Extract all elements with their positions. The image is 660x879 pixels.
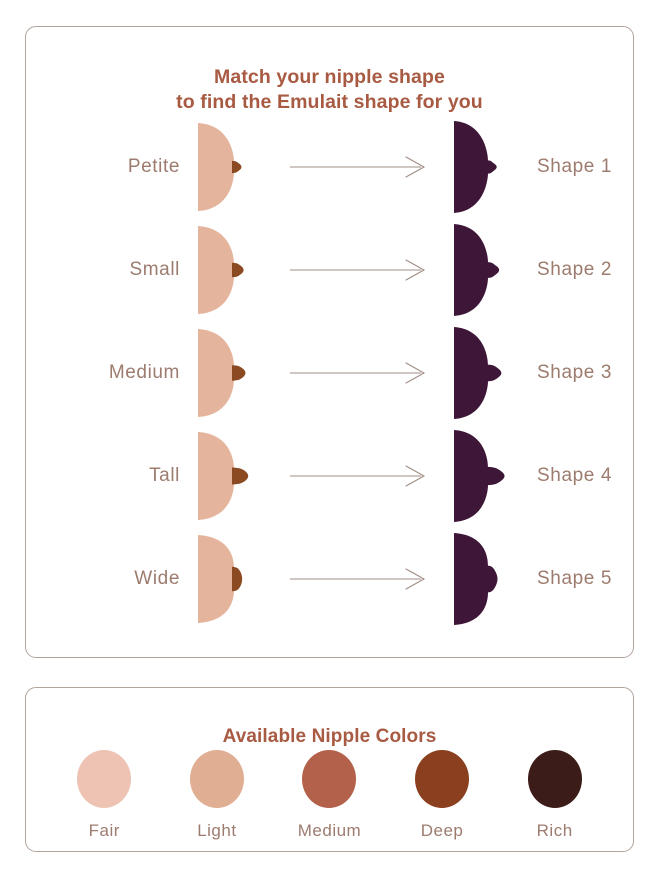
breast-profile-icon [194,222,266,318]
color-swatch-dot[interactable] [190,750,244,808]
shape-match-row: Wide Shape 5 [26,527,633,630]
breast-profile-icon [194,325,266,421]
emulait-shape-label: Shape 2 [521,259,633,281]
nipple-size-label: Small [26,259,194,281]
nipple-size-label: Medium [26,362,194,384]
color-swatch-list: FairLightMediumDeepRich [26,750,633,841]
shape-match-row: Petite Shape 1 [26,115,633,218]
right-arrow-icon [266,360,451,386]
emulait-shape-label: Shape 5 [521,568,633,590]
match-card-title-line-2: to find the Emulait shape for you [26,90,633,115]
color-swatch-dot[interactable] [77,750,131,808]
emulait-shape-label: Shape 3 [521,362,633,384]
right-arrow-icon [266,257,451,283]
right-arrow-icon [266,566,451,592]
right-arrow-icon [266,463,451,489]
color-swatch-dot[interactable] [528,750,582,808]
color-swatch-dot[interactable] [415,750,469,808]
emulait-shape-label: Shape 1 [521,156,633,178]
color-swatch[interactable]: Fair [58,750,150,841]
shape-match-row: Medium Shape 3 [26,321,633,424]
emulait-teat-icon [451,428,521,524]
nipple-size-label: Wide [26,568,194,590]
breast-profile-icon [194,531,266,627]
nipple-size-label: Petite [26,156,194,178]
color-swatch-label: Rich [537,821,573,841]
shape-match-row: Small Shape 2 [26,218,633,321]
color-swatch-label: Fair [89,821,120,841]
right-arrow-icon [266,154,451,180]
color-swatch[interactable]: Medium [283,750,375,841]
emulait-teat-icon [451,222,521,318]
breast-profile-icon [194,119,266,215]
color-swatch-label: Light [197,821,236,841]
nipple-size-label: Tall [26,465,194,487]
match-shape-card: Match your nipple shape to find the Emul… [25,26,634,658]
available-colors-card: Available Nipple Colors FairLightMediumD… [25,687,634,852]
match-card-title-line-1: Match your nipple shape [26,65,633,90]
color-swatch[interactable]: Rich [509,750,601,841]
color-swatch[interactable]: Light [171,750,263,841]
shape-match-row: Tall Shape 4 [26,424,633,527]
colors-card-title: Available Nipple Colors [26,726,633,748]
color-swatch-dot[interactable] [302,750,356,808]
color-swatch-label: Medium [298,821,361,841]
nipple-shape-guide-page: Match your nipple shape to find the Emul… [0,0,660,879]
emulait-teat-icon [451,531,521,627]
breast-profile-icon [194,428,266,524]
shape-match-rows: Petite Shape 1Small [26,115,633,630]
color-swatch[interactable]: Deep [396,750,488,841]
emulait-teat-icon [451,325,521,421]
color-swatch-label: Deep [421,821,464,841]
match-card-title: Match your nipple shape to find the Emul… [26,65,633,115]
emulait-teat-icon [451,119,521,215]
emulait-shape-label: Shape 4 [521,465,633,487]
